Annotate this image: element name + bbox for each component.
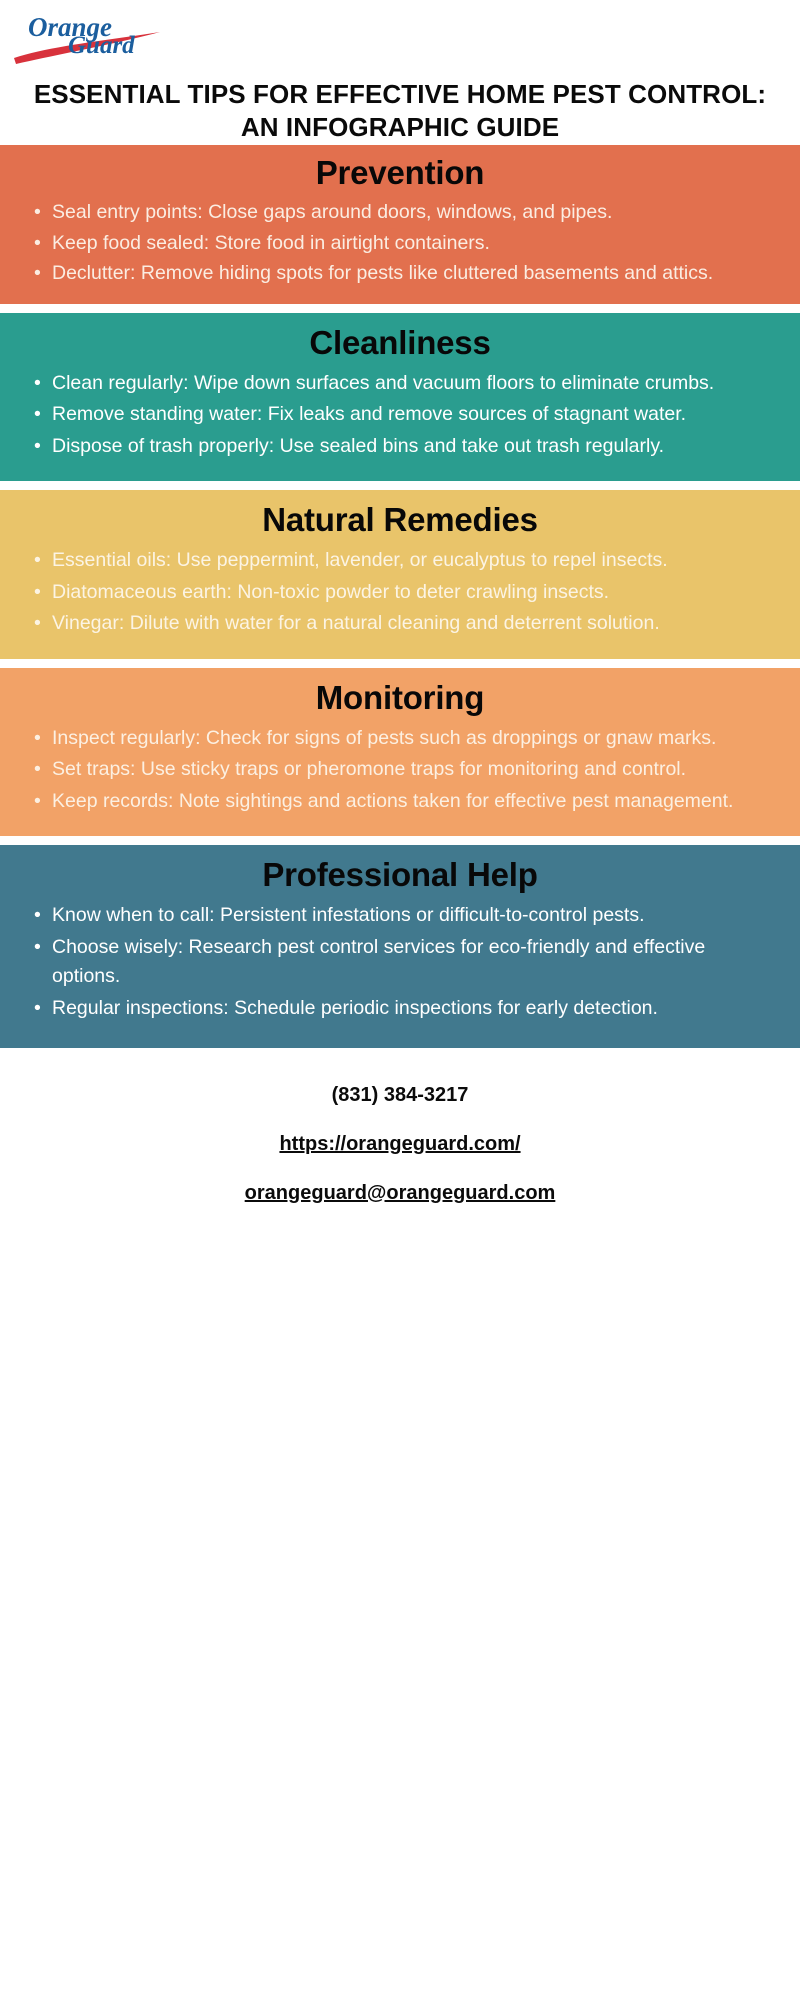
list-item-text: Regular inspections: Schedule periodic i… [52,997,658,1019]
svg-text:Guard: Guard [68,32,135,59]
orange-guard-logo-icon: Orange Guard [10,6,200,68]
list-item: •Know when to call: Persistent infestati… [26,901,774,931]
list-item: •Dispose of trash properly: Use sealed b… [26,432,774,462]
list-item-text: Remove standing water: Fix leaks and rem… [52,403,686,425]
header: Orange Guard ESSENTIAL TIPS FOR EFFECTIV… [0,0,800,145]
bullet-icon: • [34,369,41,399]
list-item-text: Essential oils: Use peppermint, lavender… [52,549,668,571]
list-item-text: Diatomaceous earth: Non-toxic powder to … [52,581,609,603]
list-item-text: Set traps: Use sticky traps or pheromone… [52,758,686,780]
list-item: •Inspect regularly: Check for signs of p… [26,724,774,754]
list-item: •Regular inspections: Schedule periodic … [26,994,774,1024]
list-item-text: Clean regularly: Wipe down surfaces and … [52,372,714,394]
list-item: •Clean regularly: Wipe down surfaces and… [26,369,774,399]
bullet-icon: • [34,259,41,289]
list-item: •Keep food sealed: Store food in airtigh… [26,229,774,259]
tips-list-prevention: •Seal entry points: Close gaps around do… [26,198,774,289]
infographic-page: Orange Guard ESSENTIAL TIPS FOR EFFECTIV… [0,0,800,2000]
bullet-icon: • [34,901,41,931]
website-link[interactable]: https://orangeguard.com/ [279,1131,520,1157]
list-item-text: Keep records: Note sightings and actions… [52,790,733,812]
list-item: •Declutter: Remove hiding spots for pest… [26,259,774,289]
bullet-icon: • [34,724,41,754]
list-item-text: Choose wisely: Research pest control ser… [52,936,705,988]
section-monitoring: Monitoring •Inspect regularly: Check for… [0,668,800,836]
section-natural-remedies: Natural Remedies •Essential oils: Use pe… [0,490,800,658]
bullet-icon: • [34,546,41,576]
list-item: •Choose wisely: Research pest control se… [26,933,774,992]
list-item-text: Dispose of trash properly: Use sealed bi… [52,435,664,457]
section-professional-help: Professional Help •Know when to call: Pe… [0,845,800,1047]
page-title: ESSENTIAL TIPS FOR EFFECTIVE HOME PEST C… [0,78,800,145]
bullet-icon: • [34,578,41,608]
section-title-natural-remedies: Natural Remedies [26,500,774,540]
section-prevention: Prevention •Seal entry points: Close gap… [0,145,800,304]
list-item: •Diatomaceous earth: Non-toxic powder to… [26,578,774,608]
bullet-icon: • [34,787,41,817]
list-item: •Set traps: Use sticky traps or pheromon… [26,755,774,785]
phone-number: (831) 384-3217 [0,1082,800,1108]
tips-list-natural-remedies: •Essential oils: Use peppermint, lavende… [26,546,774,639]
bullet-icon: • [34,609,41,639]
list-item-text: Keep food sealed: Store food in airtight… [52,232,490,254]
tips-list-monitoring: •Inspect regularly: Check for signs of p… [26,724,774,817]
bullet-icon: • [34,229,41,259]
bullet-icon: • [34,400,41,430]
email-link[interactable]: orangeguard@orangeguard.com [245,1180,556,1206]
list-item-text: Seal entry points: Close gaps around doo… [52,201,612,223]
list-item: •Essential oils: Use peppermint, lavende… [26,546,774,576]
footer-contact: (831) 384-3217 https://orangeguard.com/ … [0,1048,800,1229]
section-title-professional-help: Professional Help [26,855,774,895]
bullet-icon: • [34,198,41,228]
section-title-monitoring: Monitoring [26,678,774,718]
tips-list-professional-help: •Know when to call: Persistent infestati… [26,901,774,1024]
list-item-text: Declutter: Remove hiding spots for pests… [52,262,713,284]
section-title-cleanliness: Cleanliness [26,323,774,363]
section-cleanliness: Cleanliness •Clean regularly: Wipe down … [0,313,800,481]
bullet-icon: • [34,994,41,1024]
list-item: •Seal entry points: Close gaps around do… [26,198,774,228]
orange-guard-logo: Orange Guard [10,6,200,68]
list-item: •Vinegar: Dilute with water for a natura… [26,609,774,639]
section-title-prevention: Prevention [26,153,774,193]
list-item-text: Inspect regularly: Check for signs of pe… [52,727,716,749]
list-item: •Keep records: Note sightings and action… [26,787,774,817]
bullet-icon: • [34,432,41,462]
bullet-icon: • [34,933,41,963]
tips-list-cleanliness: •Clean regularly: Wipe down surfaces and… [26,369,774,462]
list-item: •Remove standing water: Fix leaks and re… [26,400,774,430]
list-item-text: Vinegar: Dilute with water for a natural… [52,612,660,634]
list-item-text: Know when to call: Persistent infestatio… [52,904,645,926]
bullet-icon: • [34,755,41,785]
